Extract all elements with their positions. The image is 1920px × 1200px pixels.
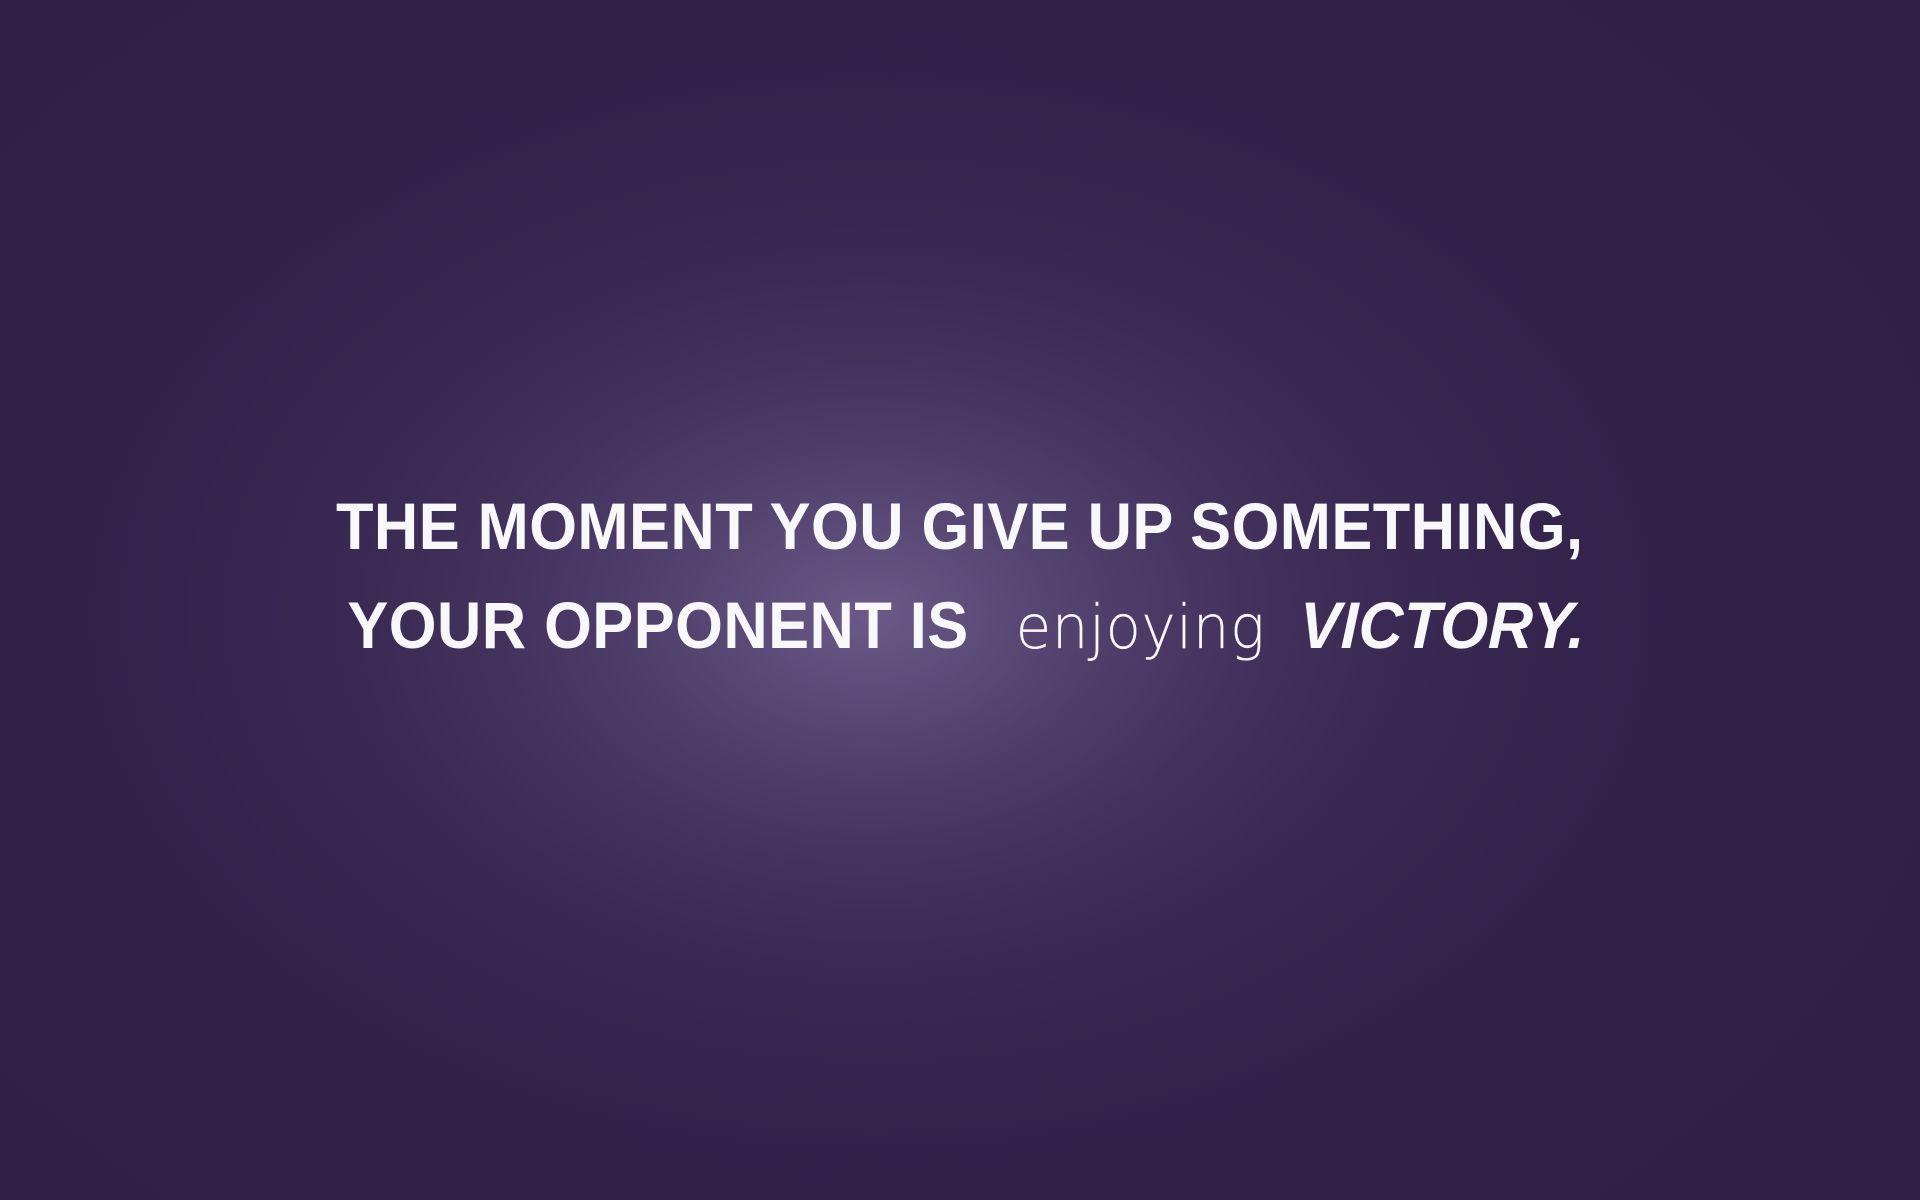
quote-line-2: YOUR OPPONENT ISenjoyingVICTORY. — [0, 585, 1920, 684]
quote-run-bold-2: YOUR OPPONENT IS — [347, 585, 968, 666]
quote-run-thin: enjoying — [1016, 587, 1266, 668]
wallpaper-canvas: THE MOMENT YOU GIVE UP SOMETHING, YOUR O… — [0, 0, 1920, 1200]
quote-run-emphasis-victory: VICTORY. — [1298, 585, 1586, 666]
quote-text-block: THE MOMENT YOU GIVE UP SOMETHING, YOUR O… — [0, 486, 1920, 684]
quote-run-bold-1: THE MOMENT YOU GIVE UP SOMETHING, — [336, 486, 1584, 567]
quote-line-1: THE MOMENT YOU GIVE UP SOMETHING, — [0, 486, 1920, 585]
